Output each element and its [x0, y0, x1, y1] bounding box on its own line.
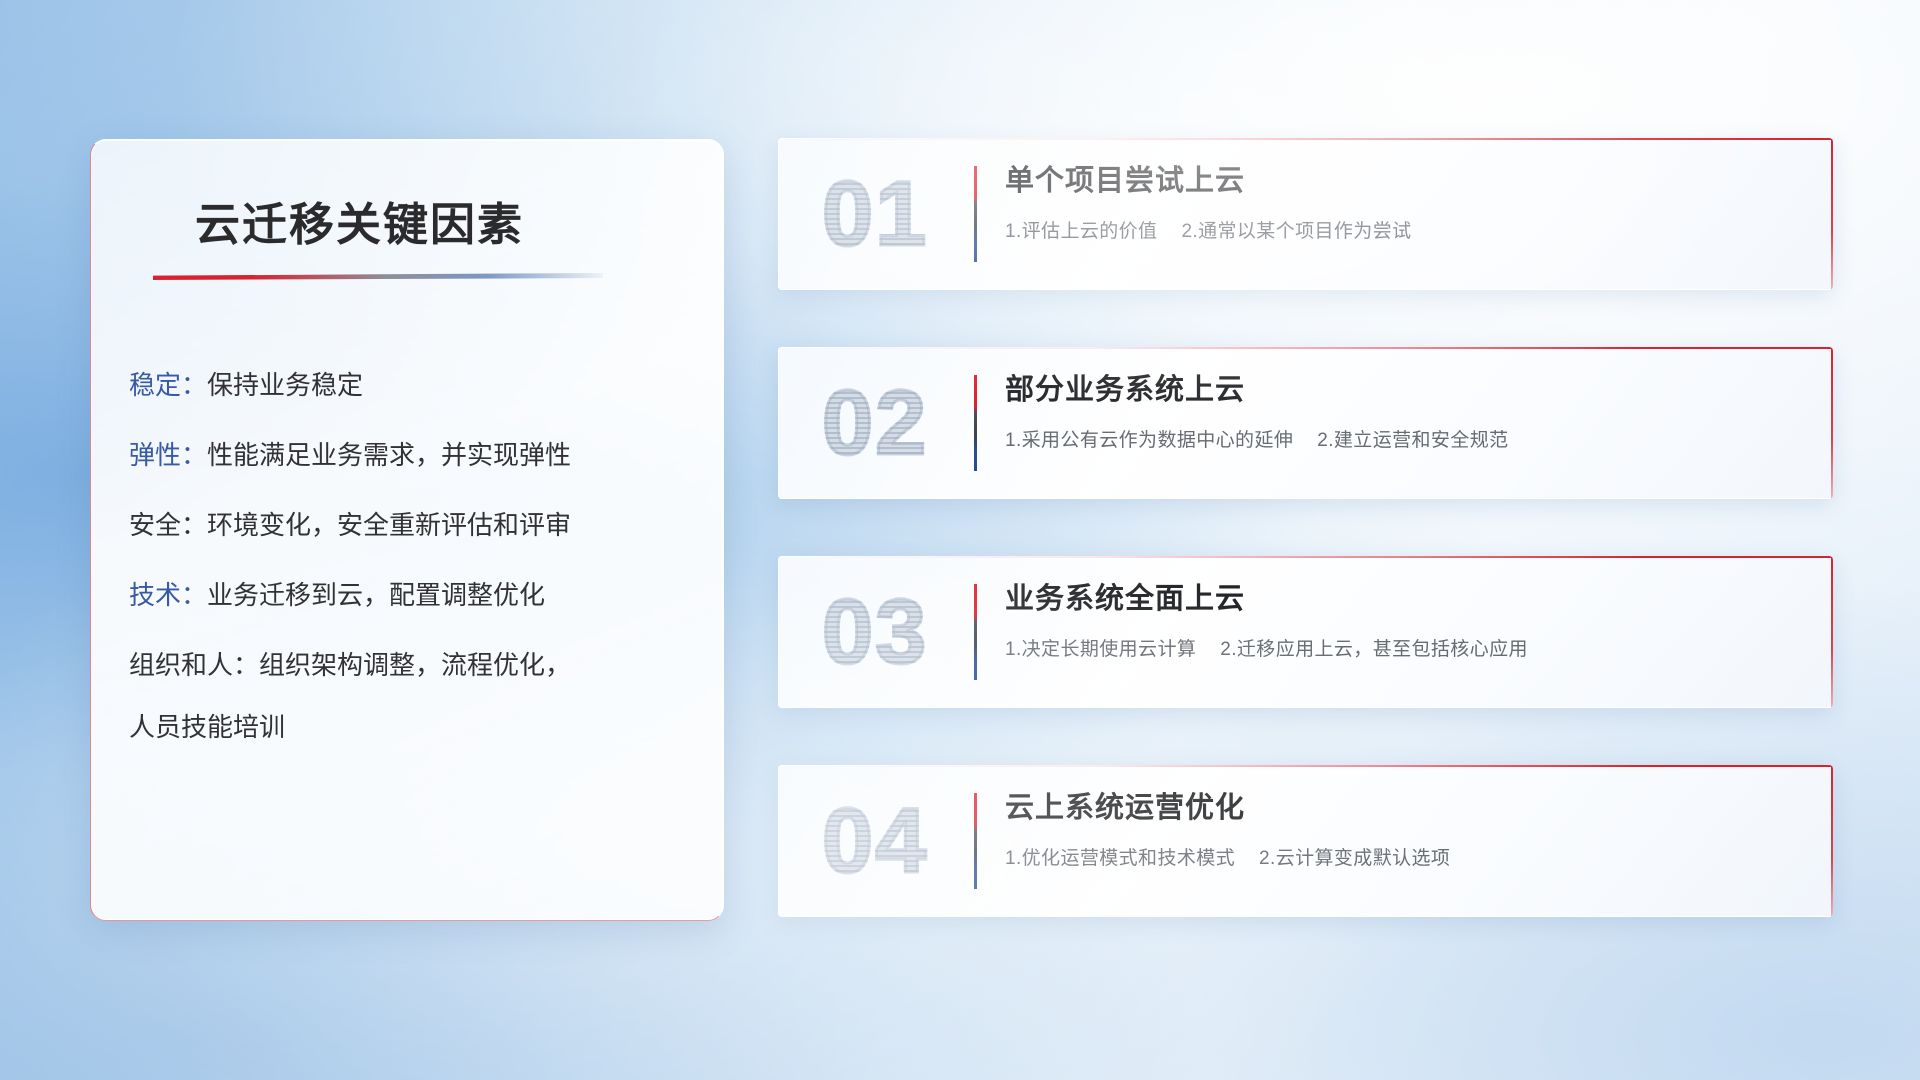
- factor-text: 组织架构调整，流程优化，: [259, 650, 571, 680]
- stage-card-title: 部分业务系统上云: [1005, 373, 1809, 408]
- list-item: 人员技能培训: [129, 714, 697, 740]
- stage-number-text: 04: [822, 795, 928, 887]
- desc-item-2: 2.通常以某个项目作为尝试: [1181, 221, 1411, 242]
- stage-card-description: 1.采用公有云作为数据中心的延伸2.建立运营和安全规范: [1005, 425, 1809, 452]
- factor-label: 技术：: [129, 580, 207, 610]
- stage-number-text: 02: [822, 377, 928, 469]
- stage-card-description: 1.决定长期使用云计算2.迁移应用上云，甚至包括核心应用: [1005, 634, 1809, 661]
- stage-number-watermark: 03: [822, 586, 928, 678]
- card-top-accent: [778, 138, 1833, 140]
- card-top-accent: [778, 556, 1833, 558]
- card-right-accent: [1831, 556, 1833, 708]
- card-divider-bar: [974, 793, 977, 889]
- stage-number-watermark: 04: [822, 795, 928, 887]
- card-divider-bar: [974, 584, 977, 680]
- desc-item-1: 1.采用公有云作为数据中心的延伸: [1005, 430, 1293, 451]
- key-factors-panel: 云迁移关键因素 稳定：保持业务稳定 弹性：性能满足业务需求，并实现弹性 安全：环…: [90, 139, 724, 921]
- page-title: 云迁移关键因素: [195, 188, 524, 253]
- stage-number-watermark: 01: [822, 168, 928, 260]
- factor-label: 稳定：: [129, 370, 207, 400]
- factor-text: 环境变化，安全重新评估和评审: [207, 510, 571, 540]
- list-item: 安全：环境变化，安全重新评估和评审: [129, 512, 697, 538]
- stage-card-03[interactable]: 03 业务系统全面上云 1.决定长期使用云计算2.迁移应用上云，甚至包括核心应用: [778, 556, 1833, 708]
- list-item: 弹性：性能满足业务需求，并实现弹性: [129, 442, 697, 468]
- desc-item-2: 2.迁移应用上云，甚至包括核心应用: [1220, 639, 1528, 660]
- card-top-accent: [778, 765, 1833, 767]
- stage-card-description: 1.评估上云的价值2.通常以某个项目作为尝试: [1005, 216, 1809, 243]
- card-divider-bar: [974, 375, 977, 471]
- desc-item-2: 2.建立运营和安全规范: [1317, 430, 1508, 451]
- factor-text: 业务迁移到云，配置调整优化: [207, 580, 545, 610]
- card-divider-bar: [974, 166, 977, 262]
- desc-item-1: 1.决定长期使用云计算: [1005, 639, 1196, 660]
- desc-item-1: 1.优化运营模式和技术模式: [1005, 848, 1235, 869]
- title-underline-rule: [153, 273, 603, 280]
- list-item: 组织和人：组织架构调整，流程优化，: [129, 652, 697, 678]
- stage-card-01[interactable]: 01 单个项目尝试上云 1.评估上云的价值2.通常以某个项目作为尝试: [778, 138, 1833, 290]
- stage-card-title: 云上系统运营优化: [1005, 791, 1809, 826]
- card-right-accent: [1831, 765, 1833, 917]
- factor-text: 性能满足业务需求，并实现弹性: [207, 440, 571, 470]
- card-top-accent: [778, 347, 1833, 349]
- stage-card-list: 01 单个项目尝试上云 1.评估上云的价值2.通常以某个项目作为尝试 02 部分…: [778, 138, 1833, 917]
- desc-item-1: 1.评估上云的价值: [1005, 221, 1157, 242]
- stage-card-02[interactable]: 02 部分业务系统上云 1.采用公有云作为数据中心的延伸2.建立运营和安全规范: [778, 347, 1833, 499]
- slide-canvas: 云迁移关键因素 稳定：保持业务稳定 弹性：性能满足业务需求，并实现弹性 安全：环…: [0, 0, 1920, 1080]
- stage-number-text: 03: [822, 586, 928, 678]
- stage-card-description: 1.优化运营模式和技术模式2.云计算变成默认选项: [1005, 843, 1809, 870]
- factor-label: 安全：: [129, 510, 207, 540]
- stage-card-04[interactable]: 04 云上系统运营优化 1.优化运营模式和技术模式2.云计算变成默认选项: [778, 765, 1833, 917]
- stage-card-title: 业务系统全面上云: [1005, 582, 1809, 617]
- list-item: 技术：业务迁移到云，配置调整优化: [129, 582, 697, 608]
- card-right-accent: [1831, 347, 1833, 499]
- factor-label: 组织和人：: [129, 650, 259, 680]
- stage-card-title: 单个项目尝试上云: [1005, 164, 1809, 199]
- card-right-accent: [1831, 138, 1833, 290]
- factor-list: 稳定：保持业务稳定 弹性：性能满足业务需求，并实现弹性 安全：环境变化，安全重新…: [129, 372, 697, 740]
- list-item: 稳定：保持业务稳定: [129, 372, 697, 398]
- stage-number-text: 01: [822, 168, 928, 260]
- factor-text: 人员技能培训: [129, 712, 285, 742]
- desc-item-2: 2.云计算变成默认选项: [1259, 848, 1450, 869]
- stage-number-watermark: 02: [822, 377, 928, 469]
- factor-text: 保持业务稳定: [207, 370, 363, 400]
- factor-label: 弹性：: [129, 440, 207, 470]
